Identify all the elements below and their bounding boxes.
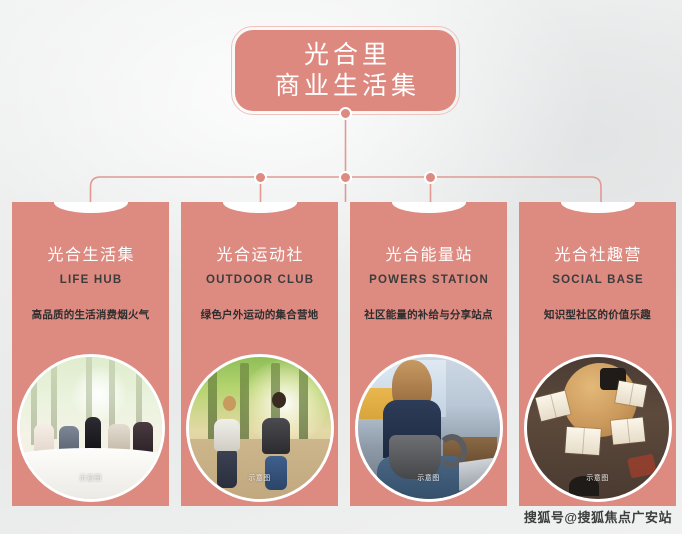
card-notch [223, 202, 297, 213]
photo-caption: 示意图 [358, 473, 500, 483]
card-notch [561, 202, 635, 213]
card-title-cn: 光合运动社 [181, 246, 338, 266]
card-title-en: POWERS STATION [350, 272, 507, 288]
photo-caption: 示意图 [189, 473, 331, 483]
title-connector-dot [339, 107, 352, 120]
category-card-social-base[interactable]: 光合社趣营 SOCIAL BASE 知识型社区的价值乐趣 示意图 [519, 202, 676, 506]
card-notch [392, 202, 466, 213]
root-title-line-1: 光合里 [300, 40, 391, 71]
card-description: 知识型社区的价值乐趣 [519, 308, 676, 323]
card-description: 高品质的生活消费烟火气 [12, 308, 169, 323]
source-watermark: 搜狐号@搜狐焦点广安站 [524, 507, 672, 526]
card-title-en: OUTDOOR CLUB [181, 272, 338, 288]
root-title-box: 光合里 商业生活集 [235, 30, 456, 111]
card-description: 绿色户外运动的集合营地 [181, 308, 338, 323]
category-card-life-hub[interactable]: 光合生活集 LIFE HUB 高品质的生活消费烟火气 示意图 [12, 202, 169, 506]
card-title-cn: 光合能量站 [350, 246, 507, 266]
root-title-node: 光合里 商业生活集 [231, 26, 460, 115]
card-photo-runners-trail: 示意图 [186, 354, 334, 502]
card-notch [54, 202, 128, 213]
card-photo-cafe-coffee: 示意图 [355, 354, 503, 502]
bus-dot-left [254, 171, 267, 184]
photo-caption: 示意图 [20, 473, 162, 483]
card-title-en: SOCIAL BASE [519, 272, 676, 288]
card-title-cn: 光合社趣营 [519, 246, 676, 266]
card-title-cn: 光合生活集 [12, 246, 169, 266]
photo-caption: 示意图 [527, 473, 669, 483]
category-card-powers-station[interactable]: 光合能量站 POWERS STATION 社区能量的补给与分享站点 示意图 [350, 202, 507, 506]
bus-dot-center [339, 171, 352, 184]
bus-dot-right [424, 171, 437, 184]
card-photo-outdoor-banquet: 示意图 [17, 354, 165, 502]
card-description: 社区能量的补给与分享站点 [350, 308, 507, 323]
card-photo-book-club: 示意图 [524, 354, 672, 502]
root-title-line-2: 商业生活集 [271, 71, 420, 102]
infographic-canvas: 光合里 商业生活集 光合生活集 LIFE HUB 高品质的生活消费烟火气 [0, 0, 682, 534]
category-card-outdoor-club[interactable]: 光合运动社 OUTDOOR CLUB 绿色户外运动的集合营地 示意图 [181, 202, 338, 506]
card-title-en: LIFE HUB [12, 272, 169, 288]
